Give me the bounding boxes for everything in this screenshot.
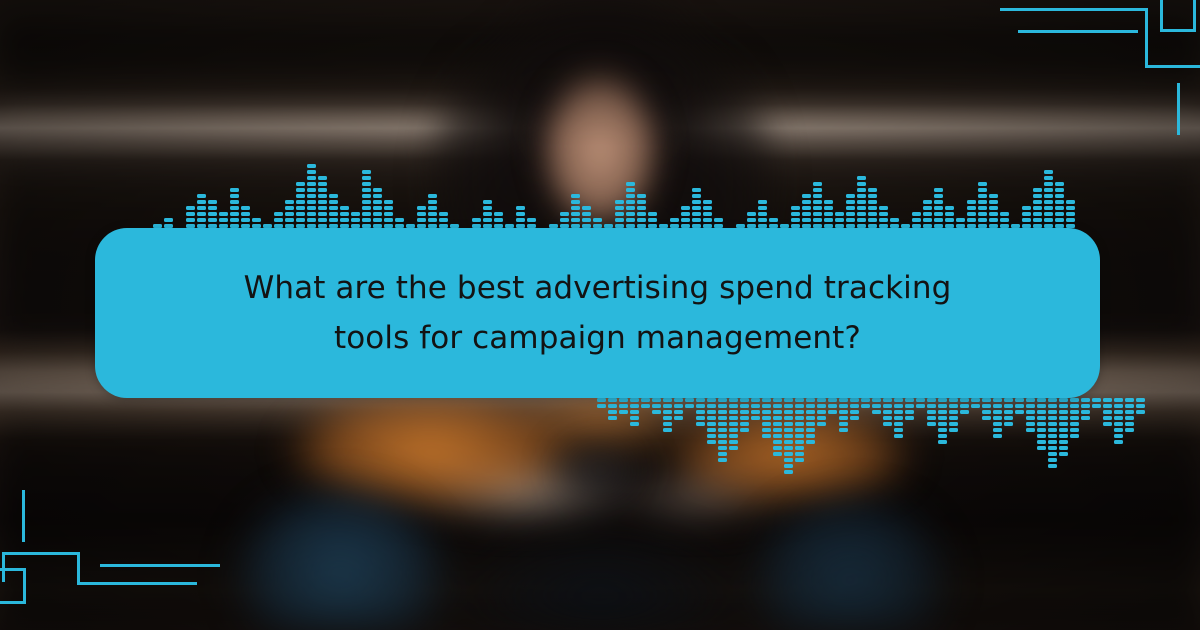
- question-line-2: tools for campaign management?: [334, 313, 861, 363]
- waveform-segment: [197, 200, 206, 204]
- waveform-segment: [740, 428, 749, 432]
- waveform-segment: [571, 218, 580, 222]
- waveform-segment: [978, 188, 987, 192]
- waveform-segment: [307, 188, 316, 192]
- waveform-segment: [927, 398, 936, 402]
- waveform-segment: [938, 398, 947, 402]
- waveform-bar: [1047, 396, 1058, 468]
- waveform-segment: [1136, 410, 1145, 414]
- waveform-segment: [773, 398, 782, 402]
- waveform-segment: [850, 416, 859, 420]
- waveform-segment: [1037, 428, 1046, 432]
- waveform-segment: [938, 422, 947, 426]
- waveform-segment: [795, 398, 804, 402]
- waveform-segment: [428, 206, 437, 210]
- waveform-bar: [783, 396, 794, 474]
- circuit-line: [77, 552, 80, 585]
- waveform-segment: [1066, 206, 1075, 210]
- waveform-segment: [1055, 218, 1064, 222]
- waveform-segment: [186, 206, 195, 210]
- waveform-segment: [938, 440, 947, 444]
- waveform-segment: [839, 416, 848, 420]
- waveform-segment: [1026, 410, 1035, 414]
- waveform-segment: [663, 410, 672, 414]
- waveform-segment: [989, 218, 998, 222]
- waveform-segment: [806, 428, 815, 432]
- waveform-segment: [626, 200, 635, 204]
- waveform-segment: [846, 212, 855, 216]
- waveform-segment: [1055, 194, 1064, 198]
- waveform-segment: [894, 398, 903, 402]
- waveform-segment: [674, 410, 683, 414]
- circuit-line: [1145, 65, 1200, 68]
- waveform-segment: [696, 410, 705, 414]
- waveform-bar: [673, 396, 684, 420]
- waveform-segment: [857, 182, 866, 186]
- waveform-segment: [835, 212, 844, 216]
- waveform-segment: [707, 440, 716, 444]
- waveform-segment: [663, 398, 672, 402]
- waveform-segment: [718, 410, 727, 414]
- waveform-bar: [893, 396, 904, 438]
- waveform-segment: [960, 398, 969, 402]
- waveform-segment: [1114, 440, 1123, 444]
- waveform-segment: [1055, 188, 1064, 192]
- waveform-segment: [813, 182, 822, 186]
- waveform-segment: [1114, 428, 1123, 432]
- waveform-segment: [960, 404, 969, 408]
- waveform-segment: [362, 170, 371, 174]
- waveform-segment: [729, 428, 738, 432]
- waveform-segment: [685, 404, 694, 408]
- waveform-segment: [718, 452, 727, 456]
- waveform-bar: [849, 396, 860, 420]
- waveform-segment: [1136, 404, 1145, 408]
- waveform-segment: [1066, 212, 1075, 216]
- waveform-segment: [1026, 422, 1035, 426]
- waveform-segment: [373, 218, 382, 222]
- waveform-segment: [960, 410, 969, 414]
- waveform-segment: [923, 206, 932, 210]
- waveform-segment: [795, 446, 804, 450]
- waveform-segment: [571, 212, 580, 216]
- waveform-segment: [1037, 416, 1046, 420]
- waveform-segment: [868, 218, 877, 222]
- waveform-segment: [813, 194, 822, 198]
- waveform-segment: [729, 416, 738, 420]
- waveform-segment: [1033, 206, 1042, 210]
- waveform-segment: [615, 218, 624, 222]
- circuit-bottom-left-icon: [0, 490, 230, 630]
- waveform-segment: [982, 404, 991, 408]
- waveform-segment: [872, 398, 881, 402]
- waveform-segment: [1070, 428, 1079, 432]
- waveform-segment: [619, 398, 628, 402]
- waveform-segment: [362, 176, 371, 180]
- waveform-segment: [912, 218, 921, 222]
- question-bubble: What are the best advertising spend trac…: [95, 228, 1100, 398]
- waveform-segment: [978, 182, 987, 186]
- waveform-segment: [795, 440, 804, 444]
- waveform-segment: [824, 206, 833, 210]
- waveform-segment: [729, 446, 738, 450]
- waveform-segment: [582, 212, 591, 216]
- waveform-segment: [1070, 410, 1079, 414]
- waveform-segment: [1044, 212, 1053, 216]
- waveform-bar: [651, 396, 662, 414]
- waveform-segment: [949, 422, 958, 426]
- circuit-line: [1018, 30, 1138, 33]
- waveform-segment: [784, 446, 793, 450]
- waveform-segment: [1037, 440, 1046, 444]
- waveform-segment: [597, 404, 606, 408]
- waveform-bar: [695, 396, 706, 426]
- circuit-node-square: [1160, 0, 1196, 32]
- waveform-segment: [1022, 206, 1031, 210]
- waveform-segment: [1059, 422, 1068, 426]
- waveform-segment: [806, 440, 815, 444]
- waveform-bar: [827, 396, 838, 414]
- waveform-segment: [681, 206, 690, 210]
- waveform-segment: [857, 206, 866, 210]
- waveform-segment: [729, 440, 738, 444]
- waveform-segment: [934, 212, 943, 216]
- waveform-bar: [948, 396, 959, 432]
- waveform-segment: [582, 206, 591, 210]
- waveform-segment: [307, 176, 316, 180]
- waveform-segment: [817, 404, 826, 408]
- waveform-segment: [318, 188, 327, 192]
- waveform-segment: [740, 416, 749, 420]
- waveform-segment: [648, 218, 657, 222]
- waveform-bar: [1014, 396, 1025, 414]
- waveform-segment: [813, 200, 822, 204]
- waveform-segment: [1015, 398, 1024, 402]
- waveform-segment: [1044, 218, 1053, 222]
- waveform-segment: [978, 206, 987, 210]
- waveform-segment: [868, 188, 877, 192]
- waveform-segment: [1103, 398, 1112, 402]
- waveform-segment: [597, 398, 606, 402]
- waveform-segment: [905, 404, 914, 408]
- waveform-segment: [879, 218, 888, 222]
- waveform-segment: [674, 404, 683, 408]
- waveform-segment: [1048, 440, 1057, 444]
- waveform-segment: [949, 398, 958, 402]
- waveform-segment: [883, 416, 892, 420]
- circuit-line: [1177, 83, 1180, 135]
- waveform-segment: [692, 218, 701, 222]
- waveform-segment: [692, 206, 701, 210]
- waveform-bar: [882, 396, 893, 426]
- waveform-segment: [560, 212, 569, 216]
- waveform-segment: [1070, 422, 1079, 426]
- waveform-segment: [417, 212, 426, 216]
- waveform-segment: [846, 194, 855, 198]
- waveform-bar: [856, 176, 867, 236]
- waveform-segment: [663, 422, 672, 426]
- waveform-segment: [971, 398, 980, 402]
- waveform-segment: [362, 188, 371, 192]
- waveform-segment: [1026, 416, 1035, 420]
- waveform-segment: [740, 404, 749, 408]
- waveform-bar: [1036, 396, 1047, 450]
- waveform-segment: [762, 416, 771, 420]
- waveform-segment: [674, 398, 683, 402]
- waveform-segment: [806, 404, 815, 408]
- waveform-bar: [772, 396, 783, 456]
- waveform-segment: [967, 200, 976, 204]
- waveform-segment: [703, 200, 712, 204]
- waveform-segment: [252, 218, 261, 222]
- waveform-segment: [384, 206, 393, 210]
- waveform-segment: [740, 422, 749, 426]
- waveform-segment: [718, 440, 727, 444]
- waveform-segment: [395, 218, 404, 222]
- waveform-segment: [1033, 218, 1042, 222]
- waveform-segment: [608, 416, 617, 420]
- waveform-segment: [1081, 416, 1090, 420]
- waveform-segment: [428, 200, 437, 204]
- waveform-segment: [718, 446, 727, 450]
- waveform-segment: [241, 212, 250, 216]
- waveform-segment: [879, 212, 888, 216]
- waveform-segment: [795, 458, 804, 462]
- waveform-segment: [1037, 422, 1046, 426]
- waveform-segment: [1048, 428, 1057, 432]
- waveform-segment: [428, 218, 437, 222]
- waveform-segment: [949, 404, 958, 408]
- waveform-segment: [718, 422, 727, 426]
- waveform-segment: [1000, 212, 1009, 216]
- waveform-segment: [208, 200, 217, 204]
- waveform-segment: [483, 218, 492, 222]
- waveform-segment: [318, 176, 327, 180]
- waveform-segment: [663, 416, 672, 420]
- waveform-segment: [208, 218, 217, 222]
- waveform-segment: [197, 212, 206, 216]
- waveform-segment: [857, 194, 866, 198]
- waveform-segment: [1055, 212, 1064, 216]
- waveform-segment: [637, 200, 646, 204]
- waveform-segment: [696, 398, 705, 402]
- waveform-segment: [802, 212, 811, 216]
- waveform-segment: [384, 200, 393, 204]
- waveform-segment: [707, 398, 716, 402]
- waveform-segment: [1103, 410, 1112, 414]
- waveform-segment: [1004, 422, 1013, 426]
- waveform-bar: [1091, 396, 1102, 408]
- waveform-segment: [637, 212, 646, 216]
- waveform-segment: [707, 422, 716, 426]
- waveform-bar: [717, 396, 728, 462]
- waveform-segment: [971, 404, 980, 408]
- waveform-segment: [912, 212, 921, 216]
- waveform-segment: [663, 428, 672, 432]
- waveform-segment: [285, 218, 294, 222]
- waveform-bar: [1124, 396, 1135, 432]
- waveform-segment: [894, 410, 903, 414]
- waveform-segment: [839, 410, 848, 414]
- waveform-segment: [1103, 416, 1112, 420]
- waveform-segment: [784, 440, 793, 444]
- waveform-segment: [729, 410, 738, 414]
- waveform-segment: [1044, 194, 1053, 198]
- waveform-segment: [626, 188, 635, 192]
- waveform-bar: [871, 396, 882, 414]
- waveform-segment: [571, 194, 580, 198]
- waveform-segment: [318, 182, 327, 186]
- waveform-segment: [417, 218, 426, 222]
- waveform-segment: [1059, 398, 1068, 402]
- waveform-segment: [784, 416, 793, 420]
- waveform-segment: [989, 194, 998, 198]
- waveform-segment: [883, 410, 892, 414]
- waveform-segment: [934, 218, 943, 222]
- waveform-segment: [1004, 416, 1013, 420]
- waveform-segment: [1033, 194, 1042, 198]
- waveform-segment: [241, 218, 250, 222]
- waveform-segment: [758, 212, 767, 216]
- waveform-segment: [296, 206, 305, 210]
- waveform-segment: [1026, 428, 1035, 432]
- waveform-segment: [883, 422, 892, 426]
- waveform-segment: [846, 206, 855, 210]
- waveform-segment: [307, 218, 316, 222]
- waveform-segment: [784, 464, 793, 468]
- circuit-line: [100, 564, 220, 567]
- waveform-bar: [959, 396, 970, 414]
- waveform-segment: [230, 206, 239, 210]
- waveform-segment: [674, 416, 683, 420]
- waveform-segment: [707, 416, 716, 420]
- waveform-segment: [718, 398, 727, 402]
- waveform-segment: [608, 410, 617, 414]
- waveform-segment: [773, 440, 782, 444]
- waveform-segment: [1033, 200, 1042, 204]
- waveform-segment: [945, 212, 954, 216]
- waveform-segment: [817, 422, 826, 426]
- waveform-segment: [652, 404, 661, 408]
- waveform-segment: [868, 206, 877, 210]
- waveform-segment: [285, 206, 294, 210]
- waveform-segment: [747, 218, 756, 222]
- waveform-segment: [905, 410, 914, 414]
- circuit-line: [2, 552, 80, 555]
- waveform-bar: [1080, 396, 1091, 420]
- waveform-segment: [894, 434, 903, 438]
- waveform-bar: [926, 396, 937, 426]
- waveform-segment: [483, 212, 492, 216]
- waveform-segment: [1103, 422, 1112, 426]
- waveform-segment: [230, 188, 239, 192]
- waveform-segment: [758, 200, 767, 204]
- waveform-segment: [839, 404, 848, 408]
- waveform-segment: [839, 428, 848, 432]
- waveform-bar: [662, 396, 673, 432]
- waveform-segment: [846, 200, 855, 204]
- waveform-segment: [373, 206, 382, 210]
- waveform-segment: [861, 398, 870, 402]
- waveform-segment: [707, 410, 716, 414]
- waveform-segment: [993, 416, 1002, 420]
- waveform-bar: [739, 396, 750, 432]
- waveform-segment: [1037, 446, 1046, 450]
- waveform-segment: [784, 470, 793, 474]
- waveform-segment: [630, 404, 639, 408]
- waveform-segment: [850, 398, 859, 402]
- waveform-segment: [274, 218, 283, 222]
- waveform-segment: [773, 428, 782, 432]
- waveform-segment: [784, 452, 793, 456]
- waveform-segment: [197, 218, 206, 222]
- waveform-segment: [806, 410, 815, 414]
- waveform-segment: [307, 194, 316, 198]
- waveform-segment: [219, 212, 228, 216]
- waveform-segment: [307, 200, 316, 204]
- waveform-segment: [626, 182, 635, 186]
- waveform-segment: [329, 206, 338, 210]
- waveform-segment: [978, 194, 987, 198]
- waveform-segment: [417, 206, 426, 210]
- waveform-segment: [703, 212, 712, 216]
- waveform-segment: [806, 422, 815, 426]
- waveform-segment: [296, 182, 305, 186]
- waveform-segment: [857, 212, 866, 216]
- waveform-segment: [718, 404, 727, 408]
- waveform-segment: [938, 416, 947, 420]
- waveform-segment: [817, 410, 826, 414]
- waveform-segment: [696, 404, 705, 408]
- waveform-segment: [883, 404, 892, 408]
- waveform-segment: [663, 404, 672, 408]
- waveform-bar: [607, 396, 618, 420]
- waveform-segment: [938, 428, 947, 432]
- waveform-segment: [982, 410, 991, 414]
- waveform-segment: [751, 416, 760, 420]
- waveform-segment: [824, 218, 833, 222]
- waveform-segment: [472, 218, 481, 222]
- waveform-segment: [241, 206, 250, 210]
- waveform-segment: [1022, 218, 1031, 222]
- waveform-segment: [593, 218, 602, 222]
- waveform-segment: [894, 422, 903, 426]
- waveform-segment: [729, 422, 738, 426]
- waveform-segment: [758, 206, 767, 210]
- waveform-segment: [956, 218, 965, 222]
- waveform-bar: [306, 164, 317, 236]
- waveform-segment: [802, 194, 811, 198]
- waveform-segment: [868, 194, 877, 198]
- waveform-segment: [439, 218, 448, 222]
- waveform-segment: [967, 212, 976, 216]
- waveform-segment: [740, 410, 749, 414]
- waveform-segment: [1044, 176, 1053, 180]
- waveform-segment: [795, 434, 804, 438]
- waveform-segment: [274, 212, 283, 216]
- waveform-segment: [318, 212, 327, 216]
- waveform-segment: [230, 194, 239, 198]
- waveform-segment: [773, 446, 782, 450]
- waveform-segment: [773, 410, 782, 414]
- waveform-bar: [1058, 396, 1069, 456]
- waveform-segment: [938, 404, 947, 408]
- waveform-segment: [1037, 434, 1046, 438]
- waveform-segment: [813, 212, 822, 216]
- waveform-segment: [894, 416, 903, 420]
- waveform-segment: [762, 422, 771, 426]
- waveform-segment: [751, 410, 760, 414]
